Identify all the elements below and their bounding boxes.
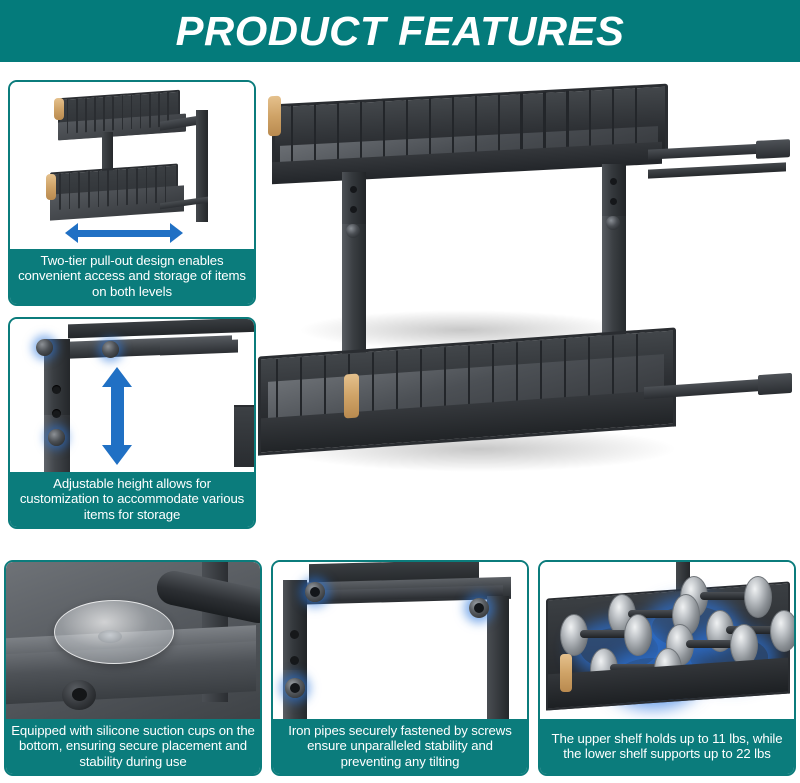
- feature-caption-text: Iron pipes securely fastened by screws e…: [277, 723, 523, 770]
- suction-foot-knob-hole: [72, 688, 87, 701]
- feature-card-screws: Iron pipes securely fastened by screws e…: [271, 560, 529, 776]
- height-adjust-hole: [52, 409, 61, 418]
- hero-product-image: [258, 74, 794, 544]
- screw-icon: [305, 582, 325, 602]
- hero-left-leg-lower: [342, 224, 366, 364]
- header-banner: PRODUCT FEATURES: [0, 0, 800, 62]
- hero-lower-rail-cap: [758, 373, 792, 395]
- feature-photo-suction: [6, 562, 260, 723]
- features-stage: Two-tier pull-out design enables conveni…: [0, 62, 800, 783]
- feature-card-capacity: The upper shelf holds up to 11 lbs, whil…: [538, 560, 796, 776]
- capacity-wood-handle: [560, 654, 572, 692]
- height-bolt-top-left: [36, 339, 53, 356]
- horizontal-double-arrow-icon: [78, 230, 170, 237]
- feature-card-height: Adjustable height allows for customizati…: [8, 317, 256, 529]
- height-side-basket: [234, 405, 254, 467]
- feature-caption-text: Equipped with silicone suction cups on t…: [10, 723, 256, 770]
- mini-upper-wood-handle: [54, 98, 64, 120]
- hero-right-leg-bolt: [606, 216, 620, 230]
- feature-caption-screws: Iron pipes securely fastened by screws e…: [273, 719, 527, 774]
- feature-caption-height: Adjustable height allows for customizati…: [10, 472, 254, 527]
- screws-right-frame: [487, 596, 509, 723]
- feature-caption-text: Two-tier pull-out design enables conveni…: [14, 253, 250, 300]
- screw-icon: [285, 678, 305, 698]
- feature-photo-height: [10, 319, 254, 476]
- hero-upper-slide-rail-lower: [648, 162, 786, 178]
- hero-upper-rail-cap: [756, 139, 790, 159]
- page-title: PRODUCT FEATURES: [176, 11, 625, 52]
- mini-frame-right: [196, 110, 208, 222]
- height-adjust-hole: [52, 385, 61, 394]
- hero-left-leg-hole: [350, 186, 357, 193]
- hero-upper-wood-handle: [268, 96, 281, 137]
- feature-caption-text: Adjustable height allows for customizati…: [14, 476, 250, 523]
- feature-caption-pullout: Two-tier pull-out design enables conveni…: [10, 249, 254, 304]
- feature-photo-screws: [273, 562, 527, 723]
- hero-left-leg-bolt: [346, 224, 360, 238]
- hero-left-leg-hole: [350, 206, 357, 213]
- screws-adjust-hole: [290, 656, 299, 665]
- screws-adjust-hole: [290, 630, 299, 639]
- hero-right-leg-hole: [610, 198, 617, 205]
- feature-caption-capacity: The upper shelf holds up to 11 lbs, whil…: [540, 719, 794, 774]
- height-bolt-top-mid: [102, 341, 119, 358]
- feature-photo-pullout: [10, 82, 254, 253]
- hero-lower-wood-handle: [344, 373, 359, 418]
- feature-caption-text: The upper shelf holds up to 11 lbs, whil…: [544, 731, 790, 762]
- feature-photo-capacity: [540, 562, 794, 723]
- pullout-illustration: [10, 82, 254, 253]
- height-horizontal-bar-extension: [160, 340, 238, 356]
- feature-caption-suction: Equipped with silicone suction cups on t…: [6, 719, 260, 774]
- suction-cup-center: [98, 630, 122, 643]
- screw-icon: [469, 598, 489, 618]
- hero-right-leg-hole: [610, 178, 617, 185]
- feature-card-suction: Equipped with silicone suction cups on t…: [4, 560, 262, 776]
- mini-lower-wood-handle: [46, 174, 56, 200]
- feature-card-pullout: Two-tier pull-out design enables conveni…: [8, 80, 256, 306]
- vertical-double-arrow-icon: [111, 387, 124, 445]
- height-adjust-bolt: [48, 429, 65, 446]
